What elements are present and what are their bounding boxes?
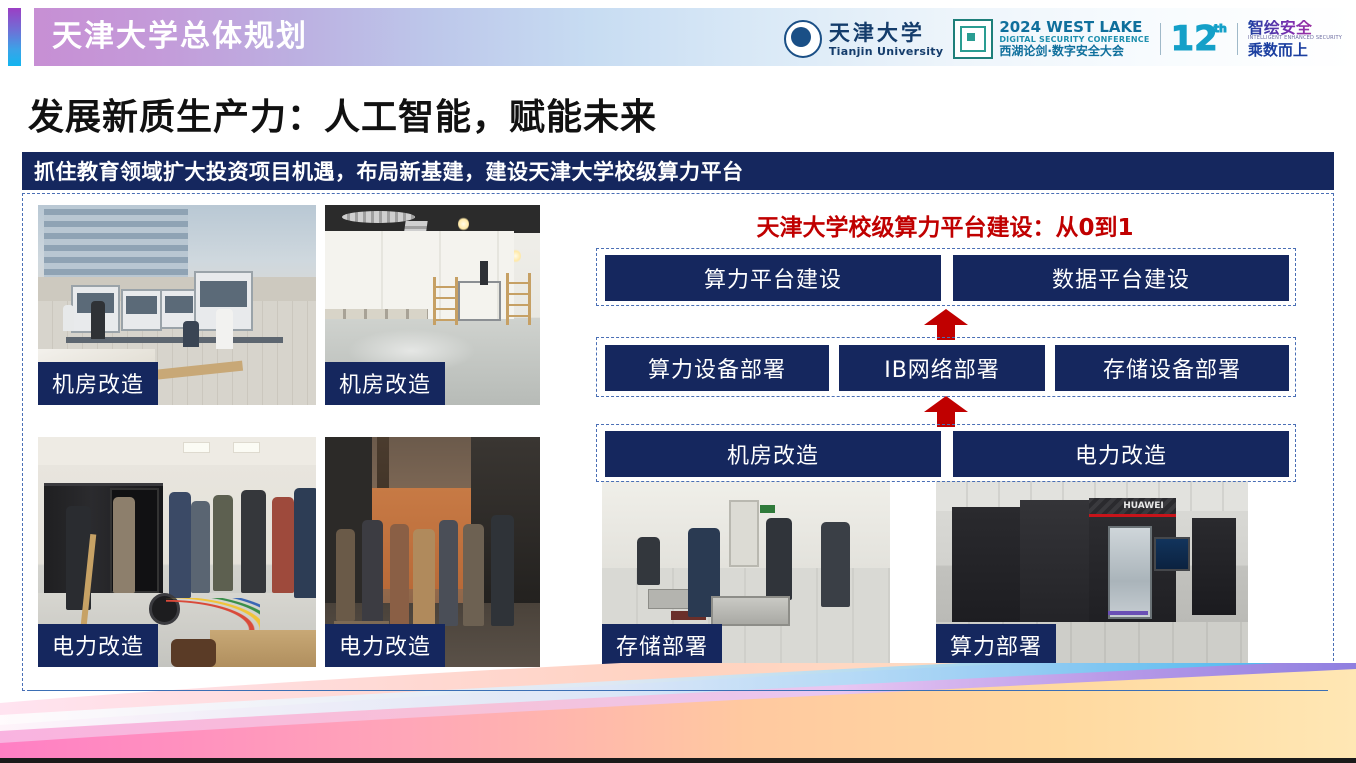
photo-caption: 电力改造 (325, 624, 445, 667)
diagram-box-compute-equipment: 算力设备部署 (605, 345, 829, 391)
theme-line1: 智绘安全 (1248, 20, 1342, 36)
photo-caption: 存储部署 (602, 624, 722, 667)
photo-caption: 电力改造 (38, 624, 158, 667)
slide-header: 天津大学总体规划 天津大学 Tianjin University 2024 WE… (0, 8, 1356, 66)
section-banner: 抓住教育领域扩大投资项目机遇，布局新基建，建设天津大学校级算力平台 (22, 152, 1334, 190)
conference-theme-logo: 智绘安全 INTELLIGENT ENHANCED SECURITY 乘数而上 (1248, 20, 1342, 58)
up-arrow-icon-bottom (924, 396, 968, 426)
photo-rooftop-hvac: 机房改造 (38, 205, 316, 405)
tju-logo-text: 天津大学 Tianjin University (829, 22, 943, 57)
huawei-brand-mark: HUAWEI (1123, 501, 1164, 511)
section-banner-text: 抓住教育领域扩大投资项目机遇，布局新基建，建设天津大学校级算力平台 (34, 156, 744, 186)
diagram-box-power-renovation: 电力改造 (953, 431, 1289, 477)
photo-transformer-site: 电力改造 (325, 437, 540, 667)
photo-compute-deployment: HUAWEI 算力部署 (936, 481, 1248, 667)
tju-name-cn: 天津大学 (829, 22, 943, 43)
diagram-box-ib-network: IB网络部署 (839, 345, 1045, 391)
page-title: 发展新质生产力：人工智能，赋能未来 (28, 88, 657, 140)
photo-caption: 机房改造 (325, 362, 445, 405)
west-lake-line2: DIGITAL SECURITY CONFERENCE (999, 36, 1149, 44)
bottom-edge-bar (0, 758, 1356, 763)
west-lake-line3: 西湖论剑·数字安全大会 (999, 45, 1149, 58)
photo-data-hall-interior: 机房改造 (325, 205, 540, 405)
west-lake-conference-logo: 2024 WEST LAKE DIGITAL SECURITY CONFEREN… (953, 19, 1149, 59)
west-lake-logo-text: 2024 WEST LAKE DIGITAL SECURITY CONFEREN… (999, 20, 1149, 58)
photo-storage-deployment: 存储部署 (602, 481, 890, 667)
edition-number-value: 12 (1171, 19, 1218, 59)
diagram-row-infrastructure: 机房改造 电力改造 (596, 424, 1296, 482)
bottom-swoosh-graphic (0, 663, 1356, 763)
west-lake-line1: 2024 WEST LAKE (999, 20, 1149, 36)
diagram-box-storage-equipment: 存储设备部署 (1055, 345, 1289, 391)
edition-number-suffix: th (1214, 23, 1227, 34)
tju-name-en: Tianjin University (829, 46, 943, 57)
bottom-divider-line (28, 690, 1328, 691)
photo-caption: 机房改造 (38, 362, 158, 405)
tianjin-university-logo: 天津大学 Tianjin University (784, 20, 943, 58)
conference-edition-number: 12th (1171, 22, 1227, 56)
west-lake-emblem-icon (953, 19, 993, 59)
header-logo-group: 天津大学 Tianjin University 2024 WEST LAKE D… (784, 16, 1342, 62)
header-title: 天津大学总体规划 (52, 18, 308, 56)
diagram-box-data-platform: 数据平台建设 (953, 255, 1289, 301)
diagram-box-compute-platform: 算力平台建设 (605, 255, 941, 301)
up-arrow-icon-top (924, 309, 968, 339)
photo-caption: 算力部署 (936, 624, 1056, 667)
diagram-box-room-renovation: 机房改造 (605, 431, 941, 477)
tianjin-university-seal-icon (784, 20, 822, 58)
header-accent-bar (8, 8, 21, 66)
bottom-decoration (0, 663, 1356, 763)
diagram-row-equipment: 算力设备部署 IB网络部署 存储设备部署 (596, 337, 1296, 397)
diagram-row-platform: 算力平台建设 数据平台建设 (596, 248, 1296, 306)
logo-divider-1 (1160, 23, 1161, 55)
logo-divider-2 (1237, 23, 1238, 55)
diagram-title: 天津大学校级算力平台建设：从0到1 (600, 208, 1290, 242)
theme-line2: 乘数而上 (1248, 43, 1342, 58)
slide-root: 天津大学总体规划 天津大学 Tianjin University 2024 WE… (0, 0, 1356, 763)
photo-power-cabinet-crowd: 电力改造 (38, 437, 316, 667)
